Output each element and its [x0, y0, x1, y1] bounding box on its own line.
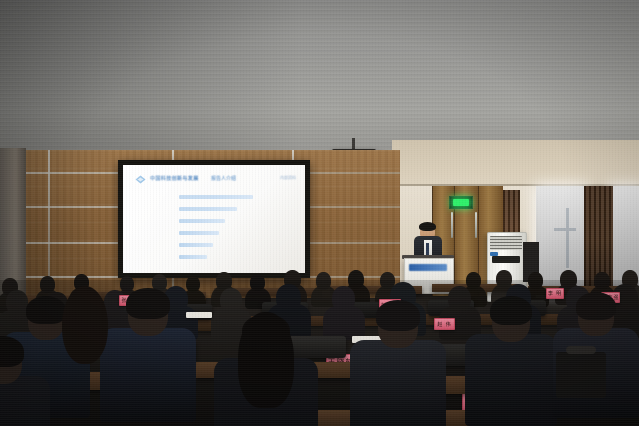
podium-logo: [409, 264, 447, 271]
screen-glare: [123, 165, 305, 273]
attendee-front-far-right-torso: [465, 334, 557, 426]
projection-screen: 中国科技创新与发展 报告人介绍 内部资料: [118, 160, 310, 278]
exit-sign-icon: [449, 196, 473, 209]
left-pillar: [0, 148, 26, 298]
ac-top-vent: [490, 236, 522, 250]
attendee-front-blue-jacket-hair: [26, 296, 66, 324]
speaker-hair: [419, 222, 436, 231]
placard-name: 赵 伟: [437, 321, 451, 328]
attendee-long-hair: [238, 312, 294, 408]
exit-sign-glow: [453, 199, 469, 206]
ceiling-soffit: [392, 140, 639, 186]
door-handle-1[interactable]: [451, 212, 453, 238]
conference-room-photo: 中国科技创新与发展 报告人介绍 内部资料 王晓鹤黄 娥刘建民李 明陈: [0, 0, 639, 426]
name-placard: 李 明: [546, 288, 564, 299]
door-handle-2[interactable]: [475, 212, 477, 238]
attendee-front-right-hair: [376, 300, 420, 331]
handbag: [556, 352, 606, 398]
attendee-front-far-right-hair: [490, 296, 532, 325]
handbag-strap: [566, 346, 596, 354]
name-placard: 赵 伟: [434, 318, 455, 330]
attendee-long-hair-left: [62, 286, 108, 364]
placard-name: 李 明: [548, 290, 562, 297]
ac-control-panel[interactable]: [492, 256, 520, 263]
attendee-front-navy-puffer-torso: [100, 328, 196, 422]
attendee-front-navy-puffer-hair: [126, 288, 170, 319]
speaker-tie: [426, 243, 429, 255]
attendee-front-edge-hair: [576, 292, 616, 320]
attendee-front-right-torso: [350, 340, 446, 426]
paper-sheet: [186, 312, 212, 318]
